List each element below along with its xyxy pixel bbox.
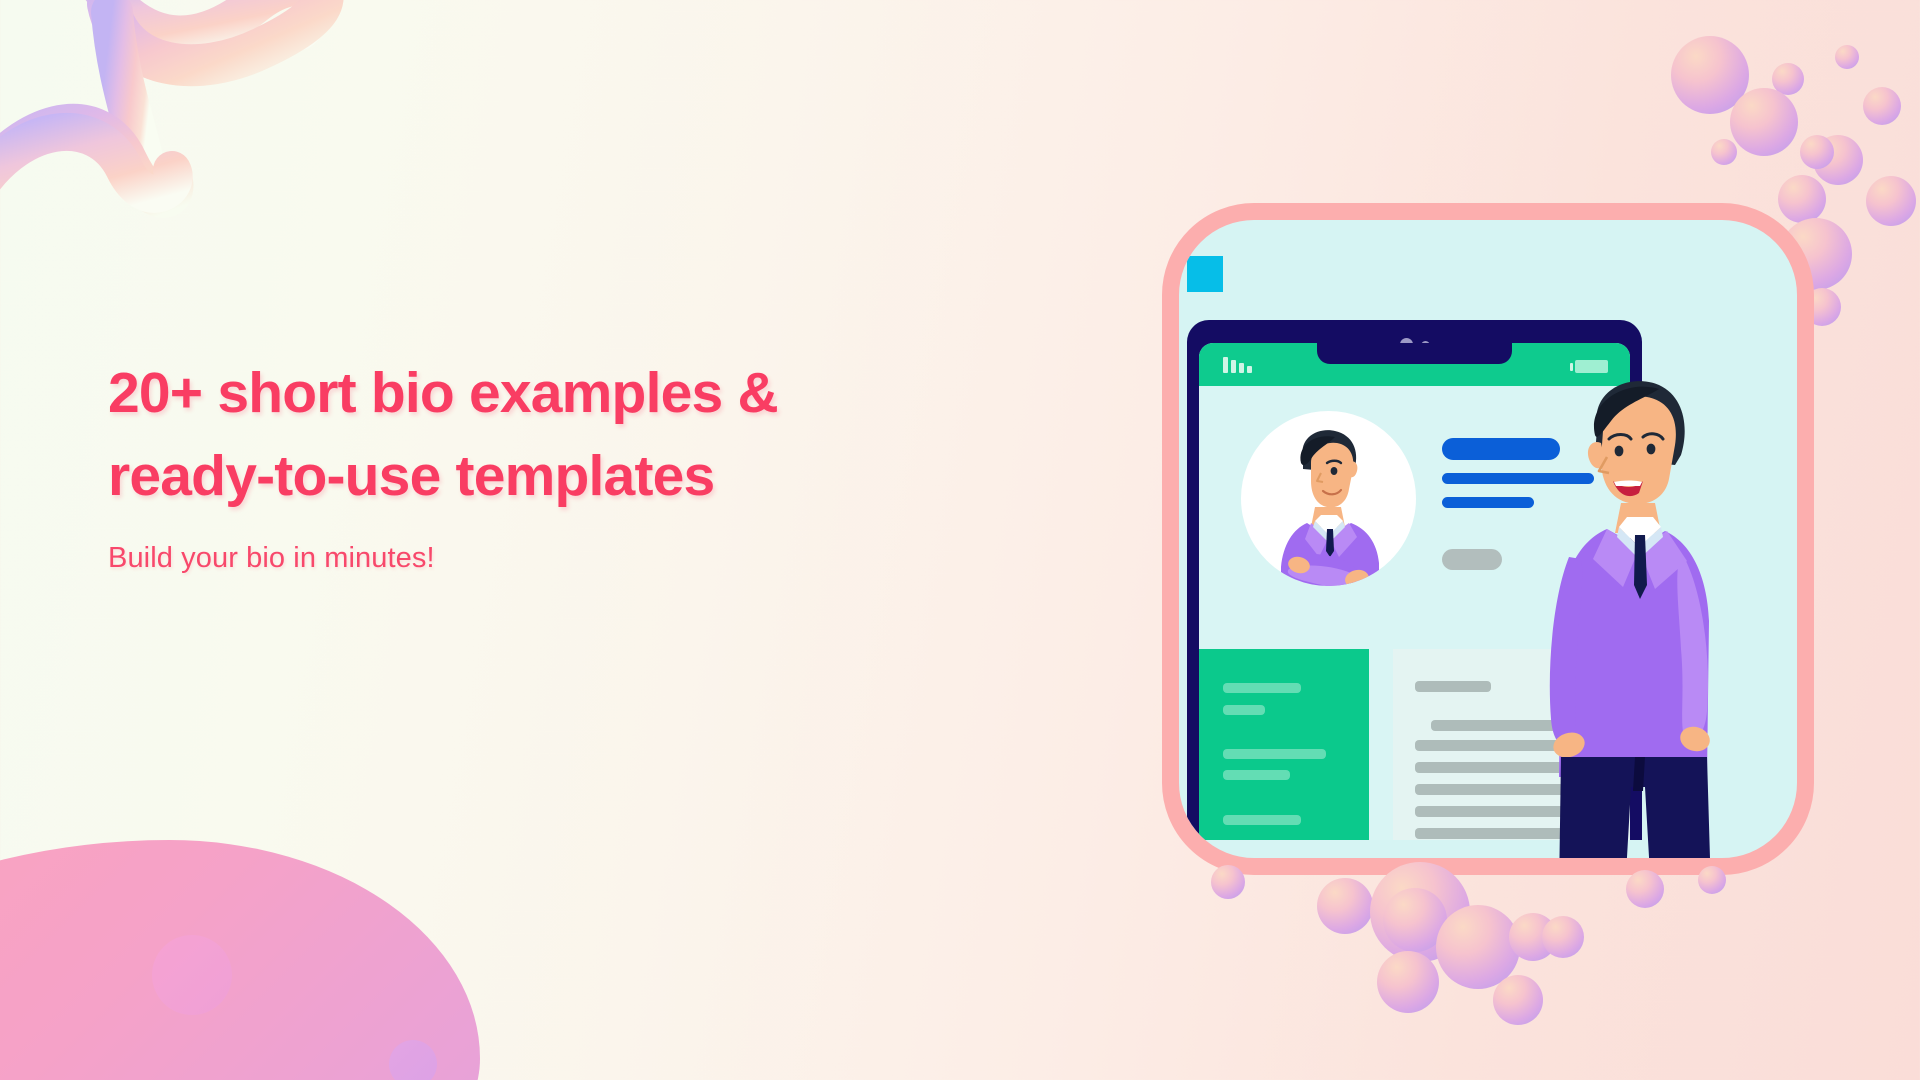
green-panel-bar-4 [1223,770,1290,780]
gray-action-pill [1442,549,1502,570]
decorative-bubble-23 [1698,866,1726,894]
hero-banner: 20+ short bio examples & ready-to-use te… [0,0,1920,1080]
signal-bar-1 [1223,357,1228,373]
decorative-bubble-7 [1800,135,1834,169]
profile-avatar-businessman [1241,411,1416,586]
decorative-bubble-8 [1778,175,1826,223]
cyan-accent-square [1187,256,1223,292]
signal-bar-4 [1247,366,1252,373]
blob-circle-large [152,935,232,1015]
green-panel-bar-1 [1223,683,1301,693]
placeholder-bar-3 [1442,497,1534,508]
decorative-bubble-19 [1542,916,1584,958]
blob-circle-small [389,1040,437,1080]
notch-cutout [1317,343,1512,364]
green-panel-bar-2 [1223,705,1265,715]
decorative-bubble-16 [1377,951,1439,1013]
page-title: 20+ short bio examples & ready-to-use te… [108,352,928,518]
decorative-bubble-13 [1317,878,1373,934]
decorative-bubble-5 [1711,139,1737,165]
decorative-bubble-3 [1835,45,1859,69]
green-panel-bar-3 [1223,749,1326,759]
decorative-bubble-4 [1730,88,1798,156]
hero-subtitle: Build your bio in minutes! [108,542,928,575]
green-sidebar-panel [1199,649,1369,840]
green-panel-bar-5 [1223,815,1301,825]
standing-businessman-illustration [1535,347,1735,875]
decorative-bubble-21 [1211,865,1245,899]
bio-builder-preview-card [1162,203,1814,875]
signal-bar-3 [1239,363,1244,373]
signal-bars-icon [1223,357,1252,373]
decorative-bubble-11 [1863,87,1901,125]
content-line-1 [1415,681,1491,692]
decorative-bubble-20 [1493,975,1543,1025]
signal-bar-2 [1231,360,1236,373]
decorative-bubble-9 [1866,176,1916,226]
hero-copy: 20+ short bio examples & ready-to-use te… [108,352,928,575]
decorative-bubble-22 [1626,870,1664,908]
